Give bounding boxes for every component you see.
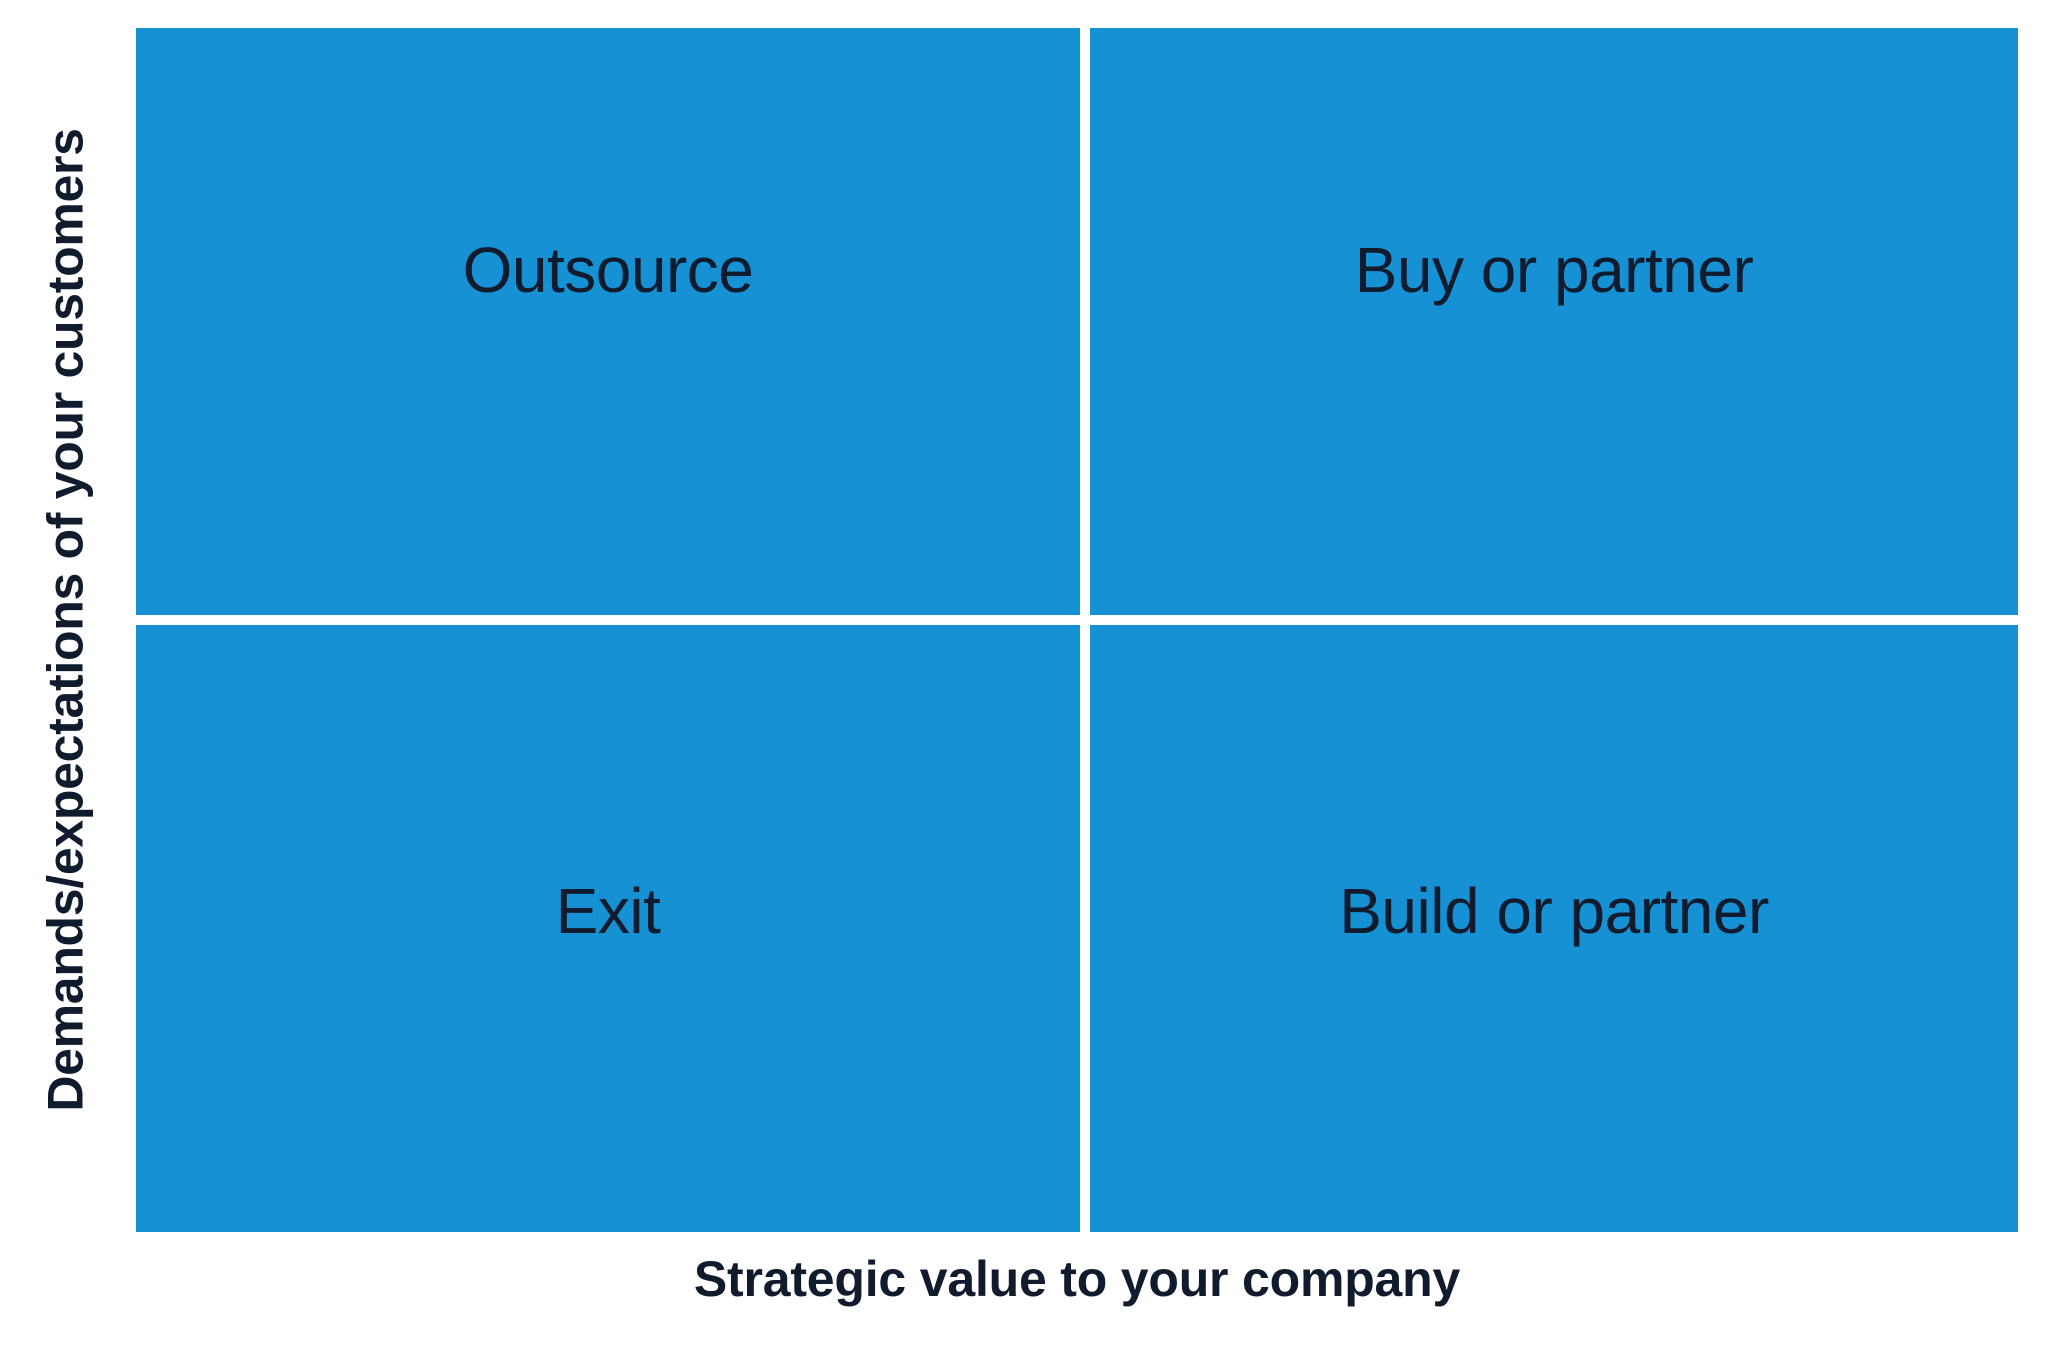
quadrant-top-right[interactable]: Buy or partner (1090, 28, 2018, 615)
quadrant-bottom-right-label: Build or partner (1339, 874, 1769, 948)
y-axis-label-container: Demands/expectations of your customers (0, 0, 132, 1240)
quadrant-top-left-label: Outsource (463, 233, 754, 307)
horizontal-divider (136, 615, 2018, 625)
quadrant-bottom-left-label: Exit (556, 874, 661, 948)
vertical-divider-top (1080, 28, 1090, 615)
vertical-divider-bottom (1080, 625, 1090, 1232)
quadrant-top-right-label: Buy or partner (1355, 233, 1754, 307)
y-axis-label: Demands/expectations of your customers (37, 128, 95, 1111)
matrix-grid: Outsource Buy or partner Exit Build or p… (136, 28, 2018, 1232)
quadrant-top-left[interactable]: Outsource (136, 28, 1080, 615)
strategy-matrix-figure: Demands/expectations of your customers O… (0, 0, 2048, 1365)
x-axis-label: Strategic value to your company (694, 1250, 1460, 1308)
quadrant-bottom-left[interactable]: Exit (136, 625, 1080, 1232)
x-axis-label-container: Strategic value to your company (136, 1250, 2018, 1350)
quadrant-bottom-right[interactable]: Build or partner (1090, 625, 2018, 1232)
